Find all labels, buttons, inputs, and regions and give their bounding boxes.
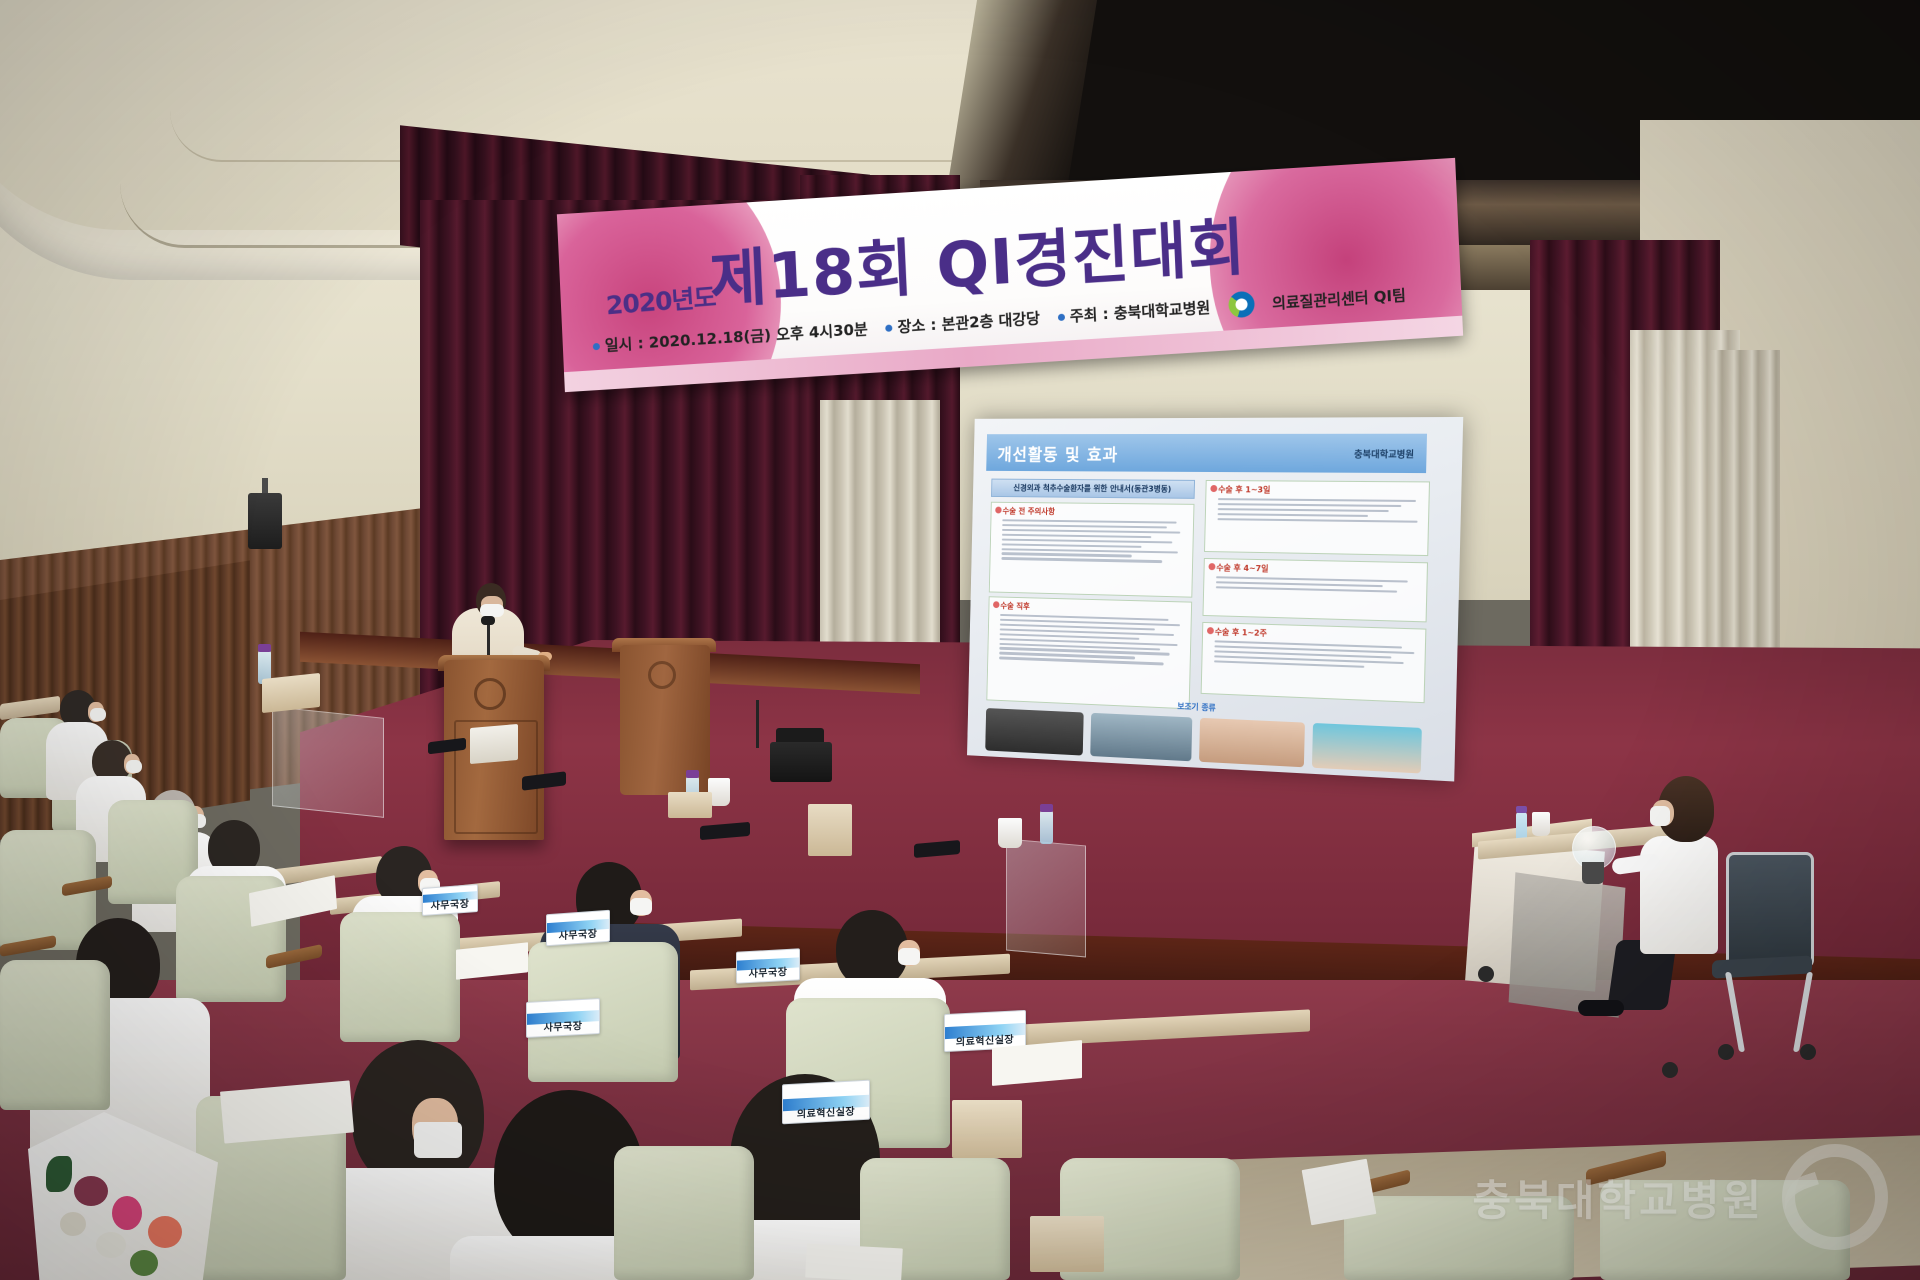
gift-box	[262, 673, 320, 713]
handout-paper	[992, 1040, 1082, 1086]
gift-box	[808, 804, 852, 856]
microphone-icon	[481, 616, 495, 625]
snack-box	[668, 792, 712, 818]
acrylic-divider	[1006, 839, 1086, 958]
neck-collar-icon	[1199, 718, 1305, 767]
bouquet-flower	[60, 1212, 86, 1236]
placard-text: 사무국장	[423, 899, 477, 915]
placard-text: 사무국장	[527, 1021, 599, 1037]
hospital-g-logo-icon	[1782, 1144, 1888, 1250]
coffee-cup	[1532, 812, 1550, 836]
hospital-g-logo-icon	[474, 678, 506, 710]
table-caster	[1478, 966, 1494, 982]
bottle-cap	[1040, 804, 1053, 812]
gift-box	[952, 1100, 1022, 1158]
watermark: 충북대학교병원	[1473, 1144, 1888, 1250]
staff-shoe	[1578, 1000, 1624, 1016]
face-mask-icon	[1650, 806, 1670, 826]
bouquet-flower	[112, 1196, 142, 1230]
watermark-text: 충북대학교병원	[1473, 1167, 1764, 1228]
chair-caster	[1718, 1044, 1734, 1060]
coffee-cup	[998, 818, 1022, 848]
equipment-case	[770, 742, 832, 782]
bouquet-flower	[96, 1232, 126, 1258]
acrylic-divider	[272, 706, 384, 818]
handout-paper	[1302, 1159, 1377, 1226]
hospital-g-logo-icon	[1228, 291, 1255, 319]
bottle-cap	[686, 770, 699, 778]
slide-section-heading: 수술 후 4~7일	[1216, 562, 1427, 578]
slide-hospital-name: 충북대학교병원	[1354, 447, 1414, 461]
table-cloth-grey	[1509, 872, 1626, 1017]
slide-section-2: 수술 후 1~3일	[1204, 480, 1430, 556]
back-brace-black-icon	[985, 708, 1084, 756]
wall-speaker-icon	[248, 493, 282, 549]
auditorium-seat	[614, 1146, 754, 1280]
face-mask-icon	[414, 1122, 462, 1158]
slide-badge: 신경외과 척추수술환자를 위한 안내서(동관3병동)	[991, 479, 1195, 499]
slide-title: 개선활동 및 효과	[997, 440, 1118, 465]
bouquet-flower	[148, 1216, 182, 1248]
banner-detail-host: 주최 : 충북대학교병원	[1057, 296, 1210, 327]
chair-caster	[1800, 1044, 1816, 1060]
table-caster	[1662, 1062, 1678, 1078]
name-placard: 사무국장	[736, 948, 800, 983]
name-placard: 사무국장	[546, 910, 610, 946]
hospital-g-logo-icon	[648, 661, 676, 689]
bouquet-leaf	[46, 1156, 72, 1192]
projection-screen: 개선활동 및 효과 충북대학교병원 신경외과 척추수술환자를 위한 안내서(동관…	[967, 417, 1463, 782]
gift-box	[1030, 1216, 1104, 1272]
face-mask-icon	[90, 708, 106, 721]
slide-section-heading: 수술 전 주의사항	[1002, 506, 1193, 519]
auditorium-seat	[0, 960, 110, 1110]
back-brace-grey-icon	[1090, 713, 1192, 761]
name-placard: 사무국장	[526, 998, 600, 1038]
slide-section-heading: 수술 후 1~3일	[1218, 484, 1429, 497]
photo-scene: 개선활동 및 효과 충북대학교병원 신경외과 척추수술환자를 위한 안내서(동관…	[0, 0, 1920, 1280]
bouquet-leaf	[130, 1250, 158, 1276]
face-mask-icon	[630, 898, 652, 915]
water-bottle	[1040, 810, 1053, 844]
slide-section-0: 수술 전 주의사항	[989, 502, 1195, 598]
slide-section-1: 수술 직후	[986, 596, 1192, 709]
slide-section-3: 수술 후 4~7일	[1203, 558, 1429, 622]
office-chair-back	[1726, 852, 1814, 968]
slide-header: 개선활동 및 효과 충북대학교병원	[986, 434, 1427, 473]
bouquet-flower	[74, 1176, 108, 1206]
slide-section-4: 수술 후 1~2주	[1201, 622, 1427, 703]
name-placard: 의료혁신실장	[782, 1080, 870, 1125]
stage-mic-stand	[756, 700, 759, 748]
handout-paper	[805, 1244, 903, 1280]
plant-pot	[1582, 862, 1604, 884]
neck-brace-blue-icon	[1312, 723, 1422, 774]
tissue-box	[470, 724, 518, 764]
face-mask-icon	[898, 948, 920, 965]
bottle-cap	[258, 644, 271, 652]
bottle-cap	[1516, 806, 1527, 813]
banner-detail-place: 장소 : 본관2층 대강당	[885, 307, 1040, 338]
face-mask-icon	[126, 760, 142, 773]
name-placard: 사무국장	[422, 884, 478, 916]
auditorium-seat	[340, 912, 460, 1042]
placard-text: 사무국장	[737, 967, 799, 982]
